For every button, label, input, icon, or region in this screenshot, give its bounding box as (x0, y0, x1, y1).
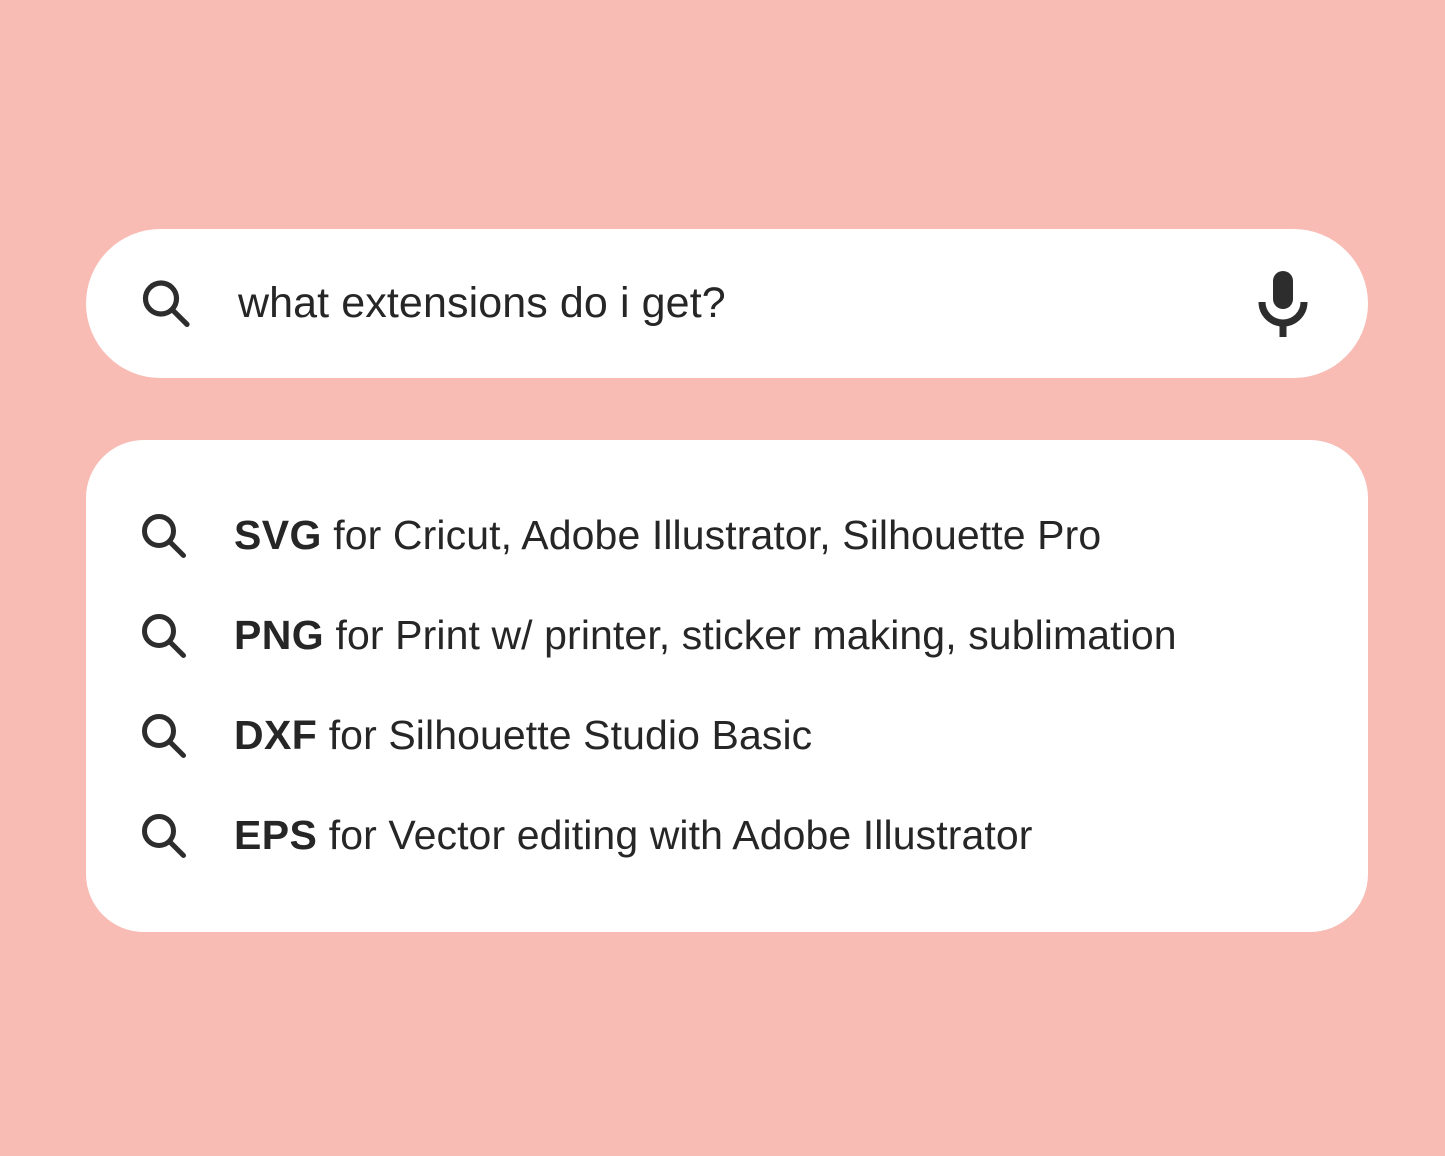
search-input[interactable]: what extensions do i get? (238, 280, 1232, 327)
suggestion-text: SVG for Cricut, Adobe Illustrator, Silho… (234, 512, 1101, 559)
suggestion-text: PNG for Print w/ printer, sticker making… (234, 612, 1177, 659)
search-icon (138, 276, 194, 332)
suggestion-format: SVG (234, 512, 322, 558)
search-bar[interactable]: what extensions do i get? (86, 229, 1368, 378)
microphone-icon[interactable] (1252, 268, 1314, 340)
list-item[interactable]: EPS for Vector editing with Adobe Illust… (86, 786, 1368, 886)
suggestion-format: DXF (234, 712, 317, 758)
suggestion-text: DXF for Silhouette Studio Basic (234, 712, 812, 759)
suggestion-format: EPS (234, 812, 317, 858)
suggestion-description: for Vector editing with Adobe Illustrato… (317, 812, 1032, 858)
suggestions-card: SVG for Cricut, Adobe Illustrator, Silho… (86, 440, 1368, 932)
list-item[interactable]: DXF for Silhouette Studio Basic (86, 686, 1368, 786)
page-root: what extensions do i get? SVG for Cricut… (0, 0, 1445, 1156)
suggestion-description: for Silhouette Studio Basic (317, 712, 812, 758)
list-item[interactable]: SVG for Cricut, Adobe Illustrator, Silho… (86, 486, 1368, 586)
suggestion-description: for Print w/ printer, sticker making, su… (324, 612, 1177, 658)
search-icon (138, 510, 190, 562)
list-item[interactable]: PNG for Print w/ printer, sticker making… (86, 586, 1368, 686)
search-icon (138, 610, 190, 662)
search-icon (138, 710, 190, 762)
suggestion-description: for Cricut, Adobe Illustrator, Silhouett… (322, 512, 1101, 558)
suggestion-text: EPS for Vector editing with Adobe Illust… (234, 812, 1033, 859)
search-icon (138, 810, 190, 862)
suggestion-format: PNG (234, 612, 324, 658)
